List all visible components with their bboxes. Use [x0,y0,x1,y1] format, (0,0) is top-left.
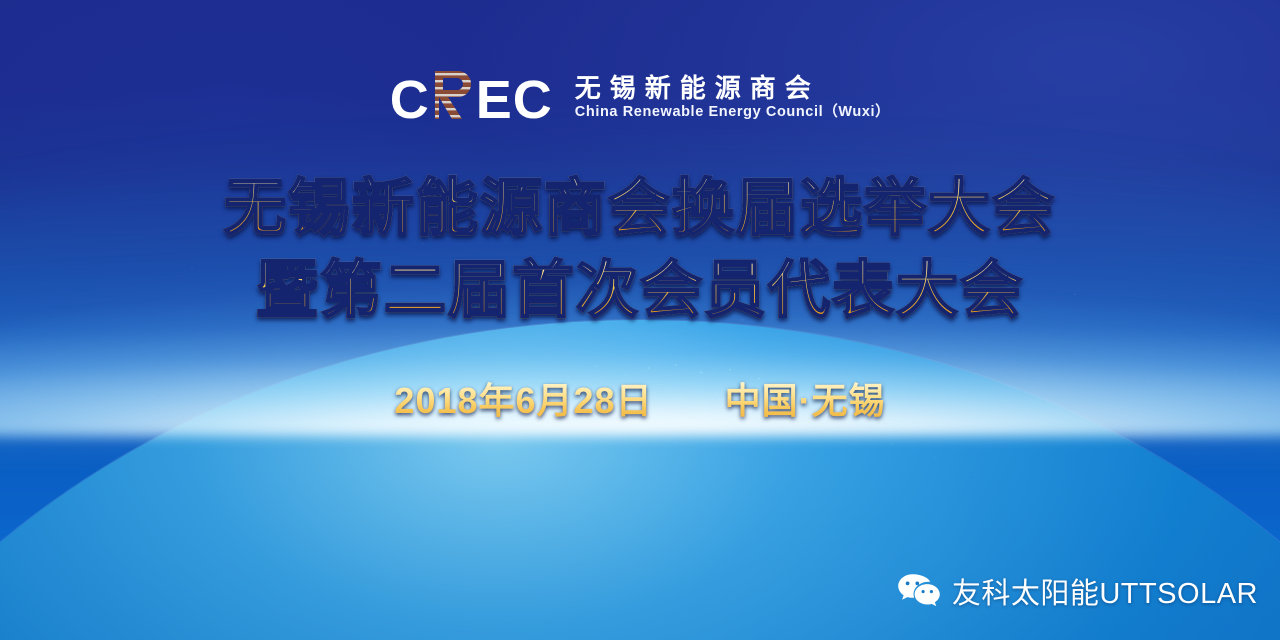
watermark-label: 友科太阳能UTTSOLAR [952,570,1258,612]
logo-letters-ec: EC [476,73,553,127]
logo-name-block: 无锡新能源商会 China Renewable Energy Council（W… [575,74,890,122]
organization-logo: C [0,68,1280,127]
logo-wordmark: C [390,68,553,127]
logo-chinese-name: 无锡新能源商会 [575,74,890,103]
event-date: 2018年6月28日 [394,372,652,424]
logo-english-name: China Renewable Energy Council（Wuxi） [575,105,890,121]
logo-letter-c: C [390,73,430,127]
title-line-1: 无锡新能源商会换届选举大会 [0,168,1280,250]
event-meta: 2018年6月28日 中国·无锡 [0,372,1280,424]
title-line-2: 暨第二届首次会员代表大会 [0,250,1280,332]
wechat-icon [897,573,941,609]
event-poster: C [0,0,1280,640]
solar-panel-r-icon [431,69,475,119]
wechat-watermark: 友科太阳能UTTSOLAR [897,570,1258,612]
event-title: 无锡新能源商会换届选举大会 暨第二届首次会员代表大会 [0,168,1280,332]
event-location: 中国·无锡 [725,372,886,424]
